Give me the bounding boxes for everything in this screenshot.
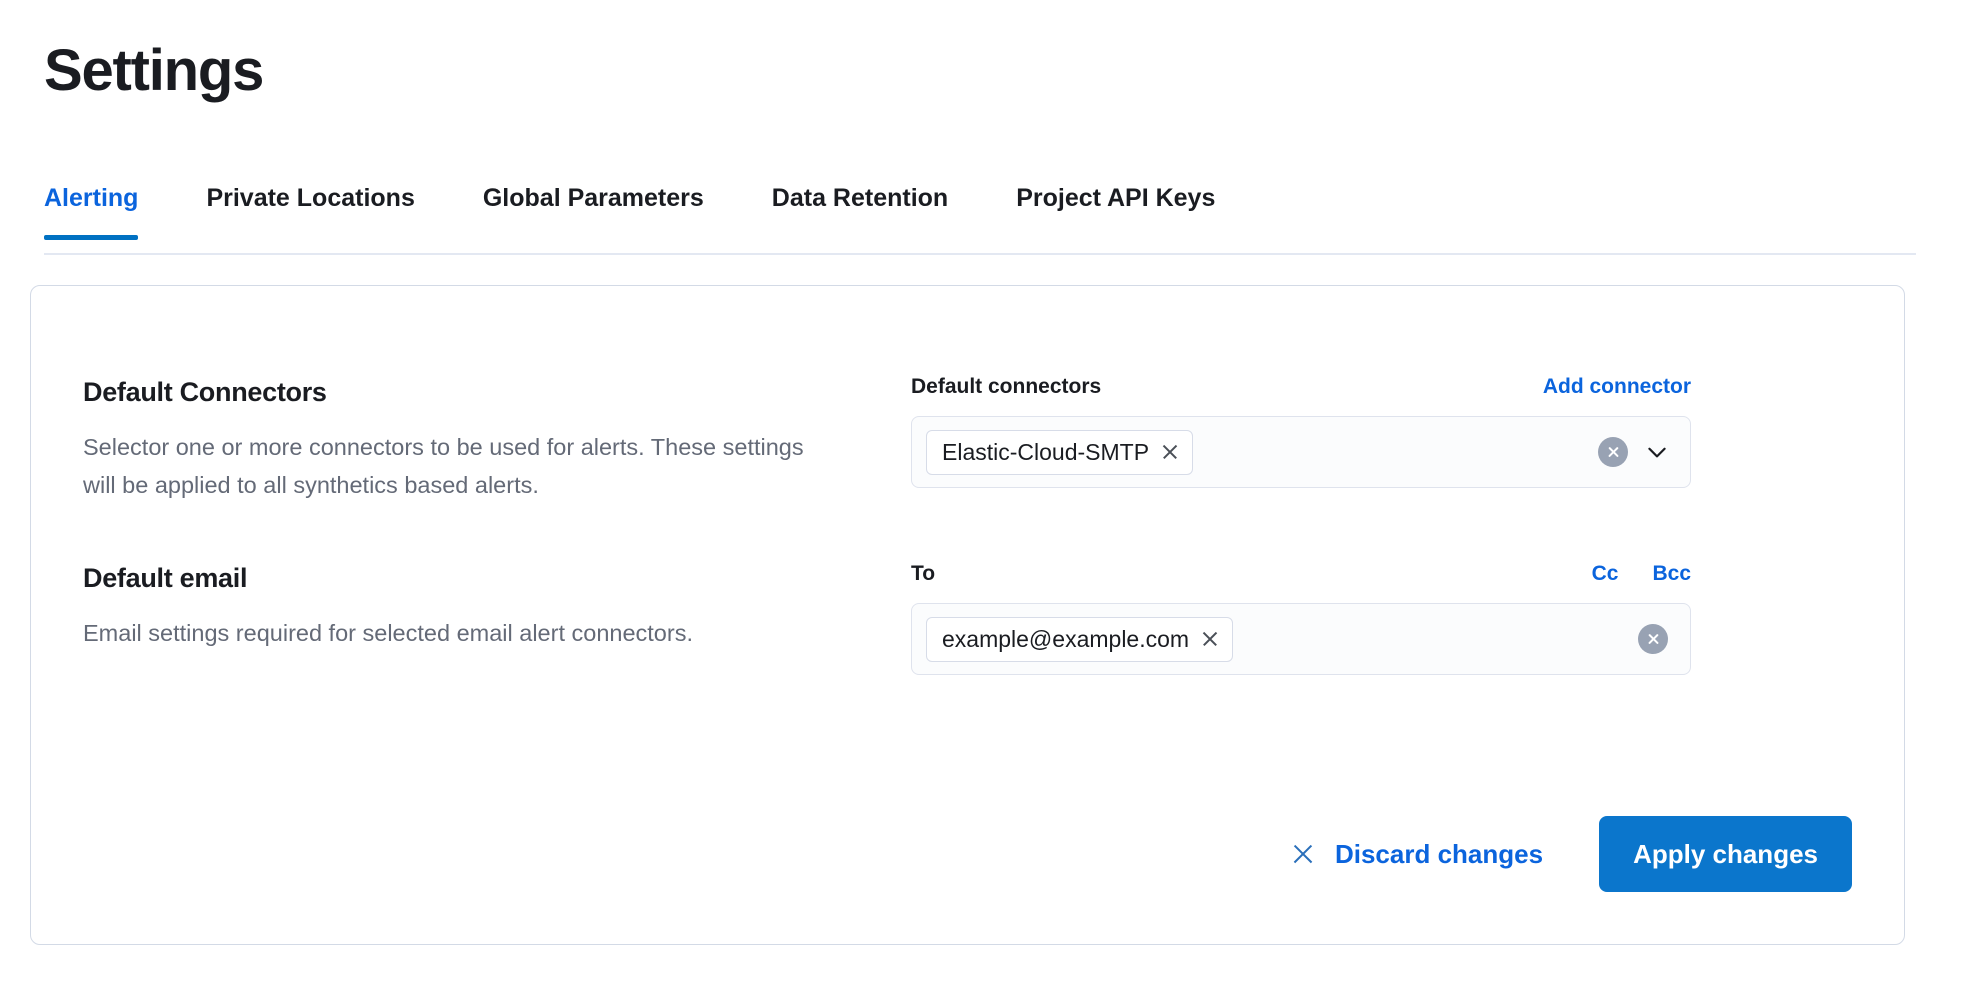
tab-project-api-keys[interactable]: Project API Keys <box>1016 183 1215 238</box>
bcc-link[interactable]: Bcc <box>1652 561 1691 587</box>
card-footer-actions: Discard changes Apply changes <box>1265 816 1852 892</box>
default-email-field-block: To Cc Bcc example@example.com <box>911 561 1691 675</box>
settings-page: Settings Alerting Private Locations Glob… <box>0 0 1965 989</box>
remove-connector-icon[interactable] <box>1161 443 1179 461</box>
recipient-pill[interactable]: example@example.com <box>926 617 1233 662</box>
to-field-label: To <box>911 561 935 587</box>
email-header-actions: Cc Bcc <box>1592 561 1691 587</box>
clear-connectors-icon[interactable] <box>1598 437 1628 467</box>
discard-changes-label: Discard changes <box>1335 839 1543 869</box>
tab-data-retention-label: Data Retention <box>772 184 948 212</box>
clear-recipients-icon[interactable] <box>1638 624 1668 654</box>
default-connectors-description-block: Default Connectors Selector one or more … <box>83 376 843 504</box>
settings-tabs: Alerting Private Locations Global Parame… <box>44 183 1916 255</box>
default-connectors-combobox[interactable]: Elastic-Cloud-SMTP <box>911 416 1691 488</box>
tab-project-api-keys-label: Project API Keys <box>1016 184 1215 212</box>
add-connector-link[interactable]: Add connector <box>1543 374 1691 400</box>
default-connectors-header-actions: Add connector <box>1543 374 1691 400</box>
discard-changes-button[interactable]: Discard changes <box>1265 825 1569 883</box>
tab-global-parameters-label: Global Parameters <box>483 184 704 212</box>
default-email-field-header: To Cc Bcc <box>911 561 1691 587</box>
page-title: Settings <box>44 40 263 102</box>
default-email-title: Default email <box>83 562 843 594</box>
tab-private-locations[interactable]: Private Locations <box>206 183 414 238</box>
default-connectors-title: Default Connectors <box>83 376 843 408</box>
tab-data-retention[interactable]: Data Retention <box>772 183 948 238</box>
tab-global-parameters[interactable]: Global Parameters <box>483 183 704 238</box>
chevron-down-icon[interactable] <box>1644 439 1670 465</box>
default-email-description-block: Default email Email settings required fo… <box>83 562 843 652</box>
default-connectors-description: Selector one or more connectors to be us… <box>83 428 813 504</box>
tab-private-locations-label: Private Locations <box>206 184 414 212</box>
default-connectors-field-header: Default connectors Add connector <box>911 374 1691 400</box>
default-email-description: Email settings required for selected ema… <box>83 614 813 652</box>
to-recipients-combobox[interactable]: example@example.com <box>911 603 1691 675</box>
cc-link[interactable]: Cc <box>1592 561 1619 587</box>
connector-pill[interactable]: Elastic-Cloud-SMTP <box>926 430 1193 475</box>
connector-pill-label: Elastic-Cloud-SMTP <box>942 438 1149 466</box>
remove-recipient-icon[interactable] <box>1201 630 1219 648</box>
alerting-settings-card: Default Connectors Selector one or more … <box>30 285 1905 945</box>
tab-alerting[interactable]: Alerting <box>44 183 138 238</box>
recipient-pill-label: example@example.com <box>942 625 1189 653</box>
apply-changes-button[interactable]: Apply changes <box>1599 816 1852 892</box>
default-connectors-field-label: Default connectors <box>911 374 1101 400</box>
cross-icon <box>1291 842 1315 866</box>
tab-alerting-label: Alerting <box>44 184 138 212</box>
default-connectors-field-block: Default connectors Add connector Elastic… <box>911 374 1691 488</box>
